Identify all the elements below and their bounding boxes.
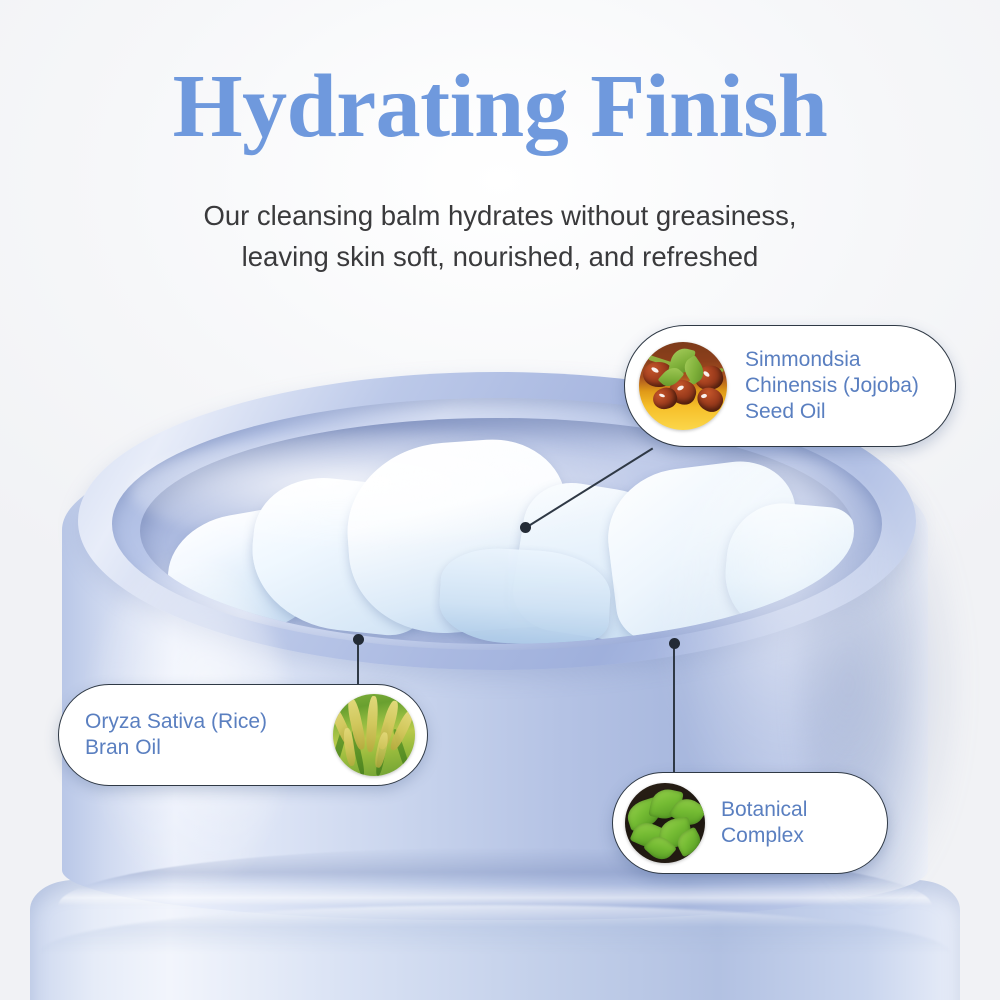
leader-dot-botanical <box>669 638 680 649</box>
balm-texture <box>140 418 854 644</box>
jar-interior-well <box>140 418 854 644</box>
botanical-label-line-2: Complex <box>721 823 807 849</box>
ingredient-badge-rice-bran-oil[interactable]: Oryza Sativa (Rice) Bran Oil <box>58 684 428 786</box>
jar-base <box>30 880 960 1000</box>
botanical-label-line-1: Botanical <box>721 797 807 823</box>
ingredient-badge-rice-label: Oryza Sativa (Rice) Bran Oil <box>85 709 267 761</box>
rice-stalks-photo-icon <box>333 694 415 776</box>
page-subtitle-line-1: Our cleansing balm hydrates without grea… <box>0 196 1000 237</box>
jar-highlight-right <box>660 455 910 815</box>
rice-label-line-2: Bran Oil <box>85 735 267 761</box>
page-title: Hydrating Finish <box>0 62 1000 152</box>
jar-highlight-top <box>130 430 650 550</box>
leader-dot-jojoba <box>520 522 531 533</box>
product-marketing-image: Hydrating Finish Our cleansing balm hydr… <box>0 0 1000 1000</box>
rice-label-line-1: Oryza Sativa (Rice) <box>85 709 267 735</box>
ingredient-badge-jojoba[interactable]: Simmondsia Chinensis (Jojoba) Seed Oil <box>624 325 956 447</box>
leader-line-rice <box>357 640 359 686</box>
page-subtitle-line-2: leaving skin soft, nourished, and refres… <box>0 237 1000 278</box>
jar-seam-lower <box>40 905 950 953</box>
jojoba-label-line-1: Simmondsia <box>745 347 919 373</box>
ingredient-badge-botanical-complex[interactable]: Botanical Complex <box>612 772 888 874</box>
ingredient-badge-botanical-label: Botanical Complex <box>721 797 807 849</box>
page-subtitle: Our cleansing balm hydrates without grea… <box>0 196 1000 277</box>
leader-line-jojoba <box>525 448 653 529</box>
leader-dot-rice <box>353 634 364 645</box>
ingredient-badge-jojoba-label: Simmondsia Chinensis (Jojoba) Seed Oil <box>745 347 919 425</box>
leader-line-botanical <box>673 644 675 774</box>
green-leaves-plant-photo-icon <box>625 783 705 863</box>
jojoba-label-line-2: Chinensis (Jojoba) <box>745 373 919 399</box>
jojoba-berries-oil-photo-icon <box>639 342 727 430</box>
jojoba-label-line-3: Seed Oil <box>745 399 919 425</box>
